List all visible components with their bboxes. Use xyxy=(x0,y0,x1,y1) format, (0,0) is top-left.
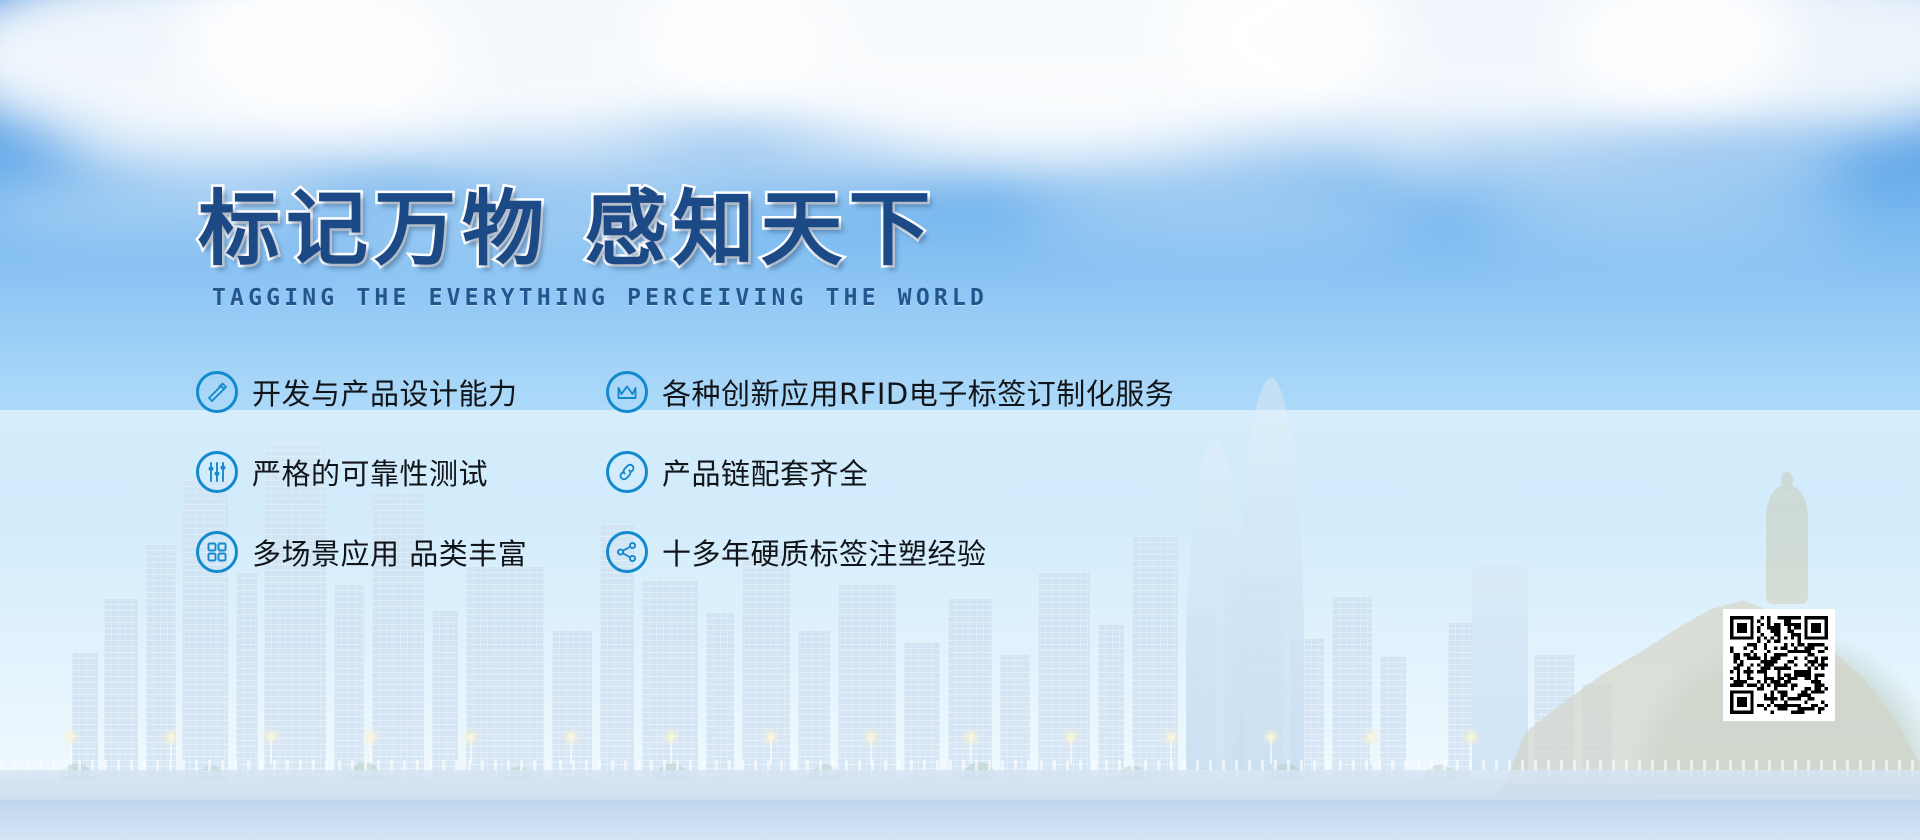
promo-banner: 标记万物 感知天下 TAGGING THE EVERYTHING PERCEIV… xyxy=(0,0,1920,840)
feature-label: 开发与产品设计能力 xyxy=(252,371,518,413)
feature-list: 开发与产品设计能力 各种创新应用RFID电子标签订制化服务 xyxy=(196,352,1174,592)
feature-item-design[interactable]: 开发与产品设计能力 xyxy=(196,371,606,413)
share-nodes-icon xyxy=(606,531,648,573)
banner-content: 标记万物 感知天下 TAGGING THE EVERYTHING PERCEIV… xyxy=(0,0,1920,840)
qr-code xyxy=(1730,616,1828,714)
chain-link-icon xyxy=(606,451,648,493)
pencil-ruler-icon xyxy=(196,371,238,413)
feature-label: 各种创新应用RFID电子标签订制化服务 xyxy=(662,371,1174,413)
qr-code-container[interactable] xyxy=(1723,609,1835,721)
feature-label: 产品链配套齐全 xyxy=(662,451,869,493)
grid-squares-icon xyxy=(196,531,238,573)
subheadline: TAGGING THE EVERYTHING PERCEIVING THE WO… xyxy=(212,285,988,311)
feature-item-scenarios[interactable]: 多场景应用 品类丰富 xyxy=(196,531,606,573)
feature-item-supply[interactable]: 产品链配套齐全 xyxy=(606,451,1174,493)
feature-label: 多场景应用 品类丰富 xyxy=(252,531,527,573)
feature-item-experience[interactable]: 十多年硬质标签注塑经验 xyxy=(606,531,1174,573)
feature-label: 十多年硬质标签注塑经验 xyxy=(662,531,987,573)
feature-label: 严格的可靠性测试 xyxy=(252,451,488,493)
crown-icon xyxy=(606,371,648,413)
headline: 标记万物 感知天下 xyxy=(198,162,937,281)
feature-item-rfid[interactable]: 各种创新应用RFID电子标签订制化服务 xyxy=(606,371,1174,413)
sliders-icon xyxy=(196,451,238,493)
feature-item-reliability[interactable]: 严格的可靠性测试 xyxy=(196,451,606,493)
